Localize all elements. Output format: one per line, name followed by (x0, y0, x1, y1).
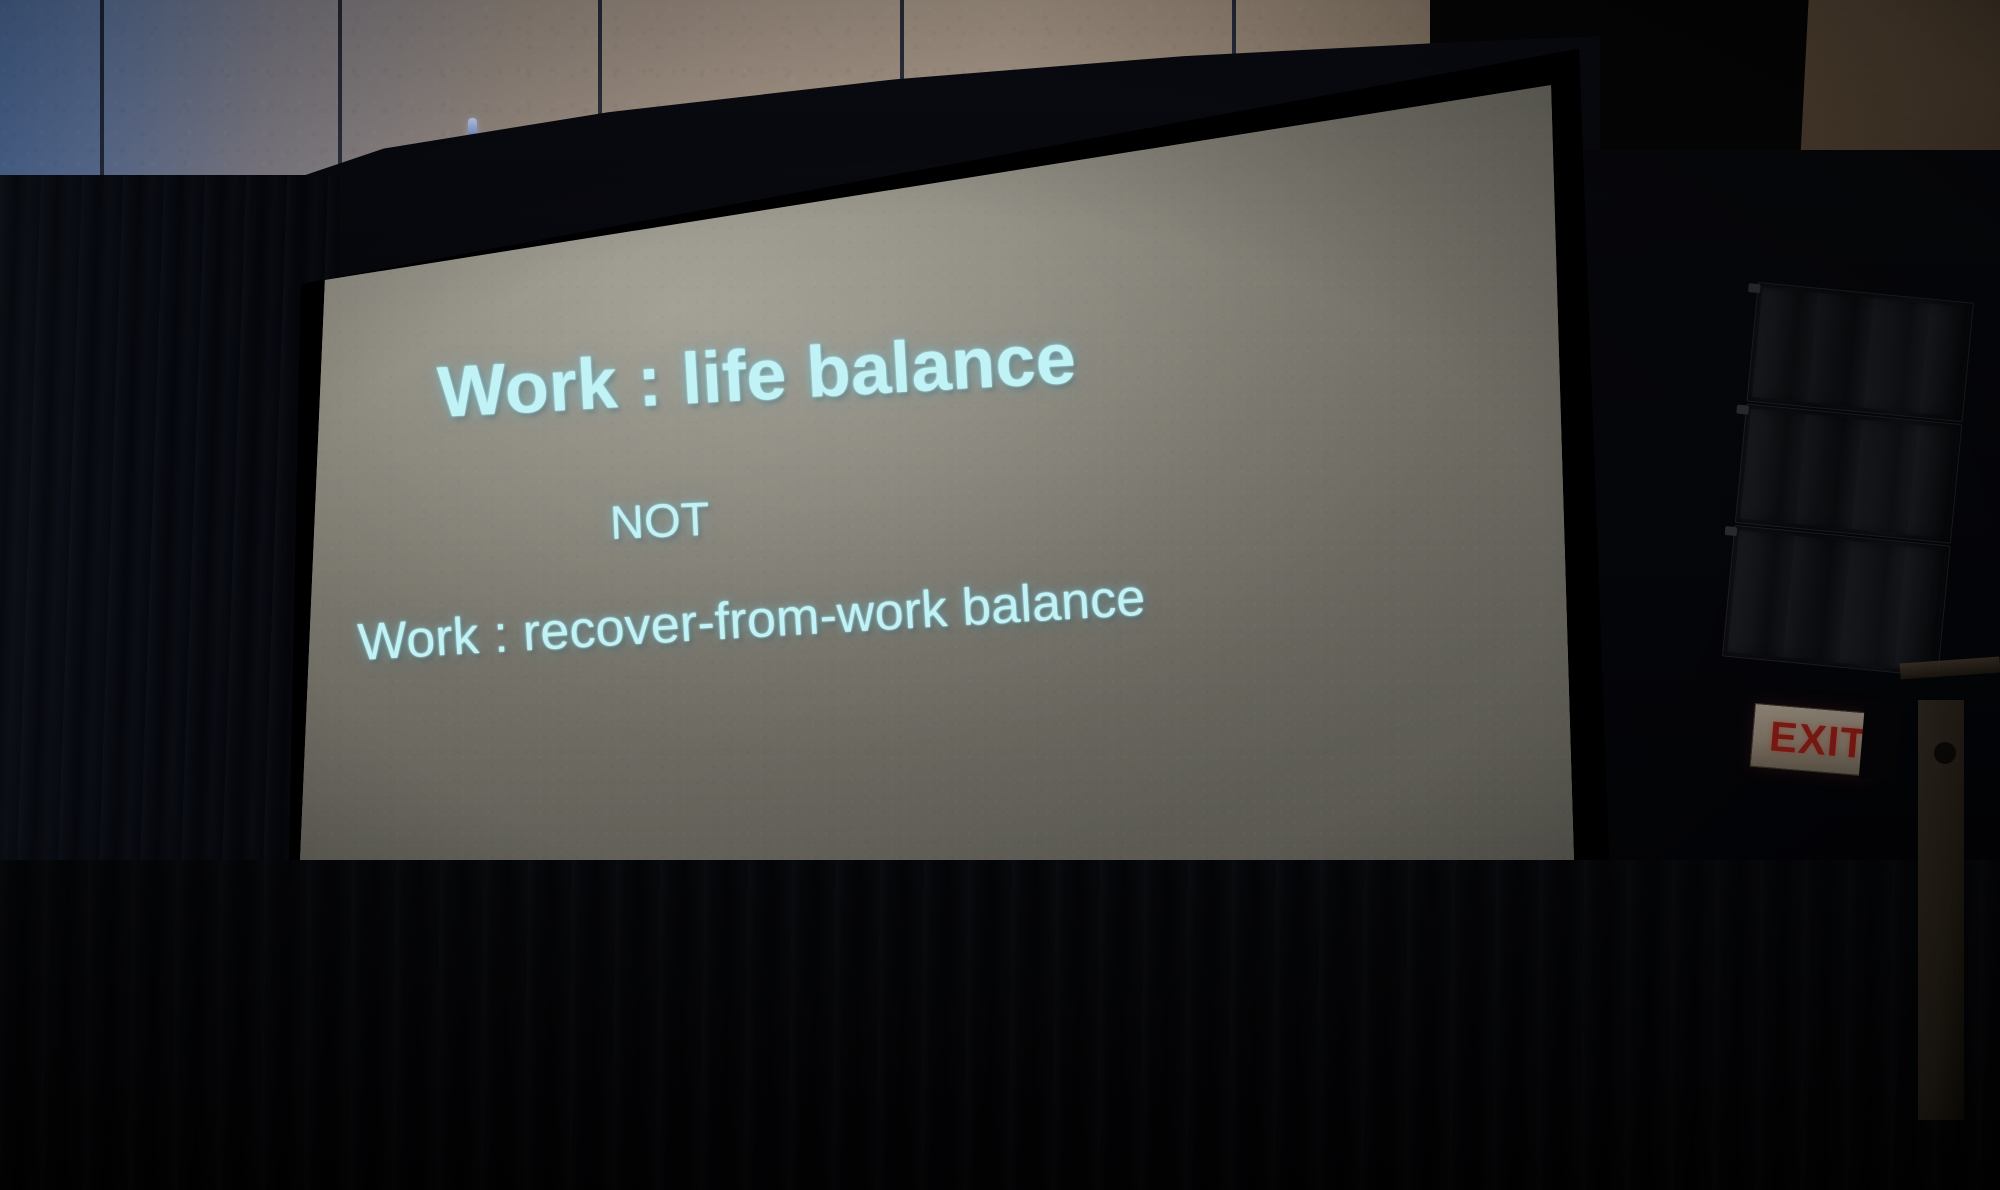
line-array-speaker (1720, 282, 1977, 701)
presentation-room-photo: Work : life balance NOT Work : recover-f… (0, 0, 2000, 1190)
exit-sign-occluder (1859, 699, 1902, 782)
slide-content: Work : life balance NOT Work : recover-f… (278, 40, 1618, 1000)
speaker-module (1722, 525, 1951, 677)
speaker-module (1735, 403, 1963, 543)
exit-sign-label: EXIT (1768, 715, 1869, 765)
slide-connector: NOT (609, 491, 711, 550)
rigging-bracket (1748, 283, 1761, 293)
slide-title: Work : life balance (436, 318, 1078, 434)
rigging-bracket (1725, 526, 1738, 536)
slide-subtitle: Work : recover-from-work balance (356, 568, 1147, 673)
stage-skirt (0, 860, 2000, 1190)
speaker-module (1746, 282, 1974, 422)
door-hardware (1934, 742, 1956, 764)
skirt-folds (0, 860, 2000, 1190)
rigging-bracket (1736, 405, 1749, 415)
